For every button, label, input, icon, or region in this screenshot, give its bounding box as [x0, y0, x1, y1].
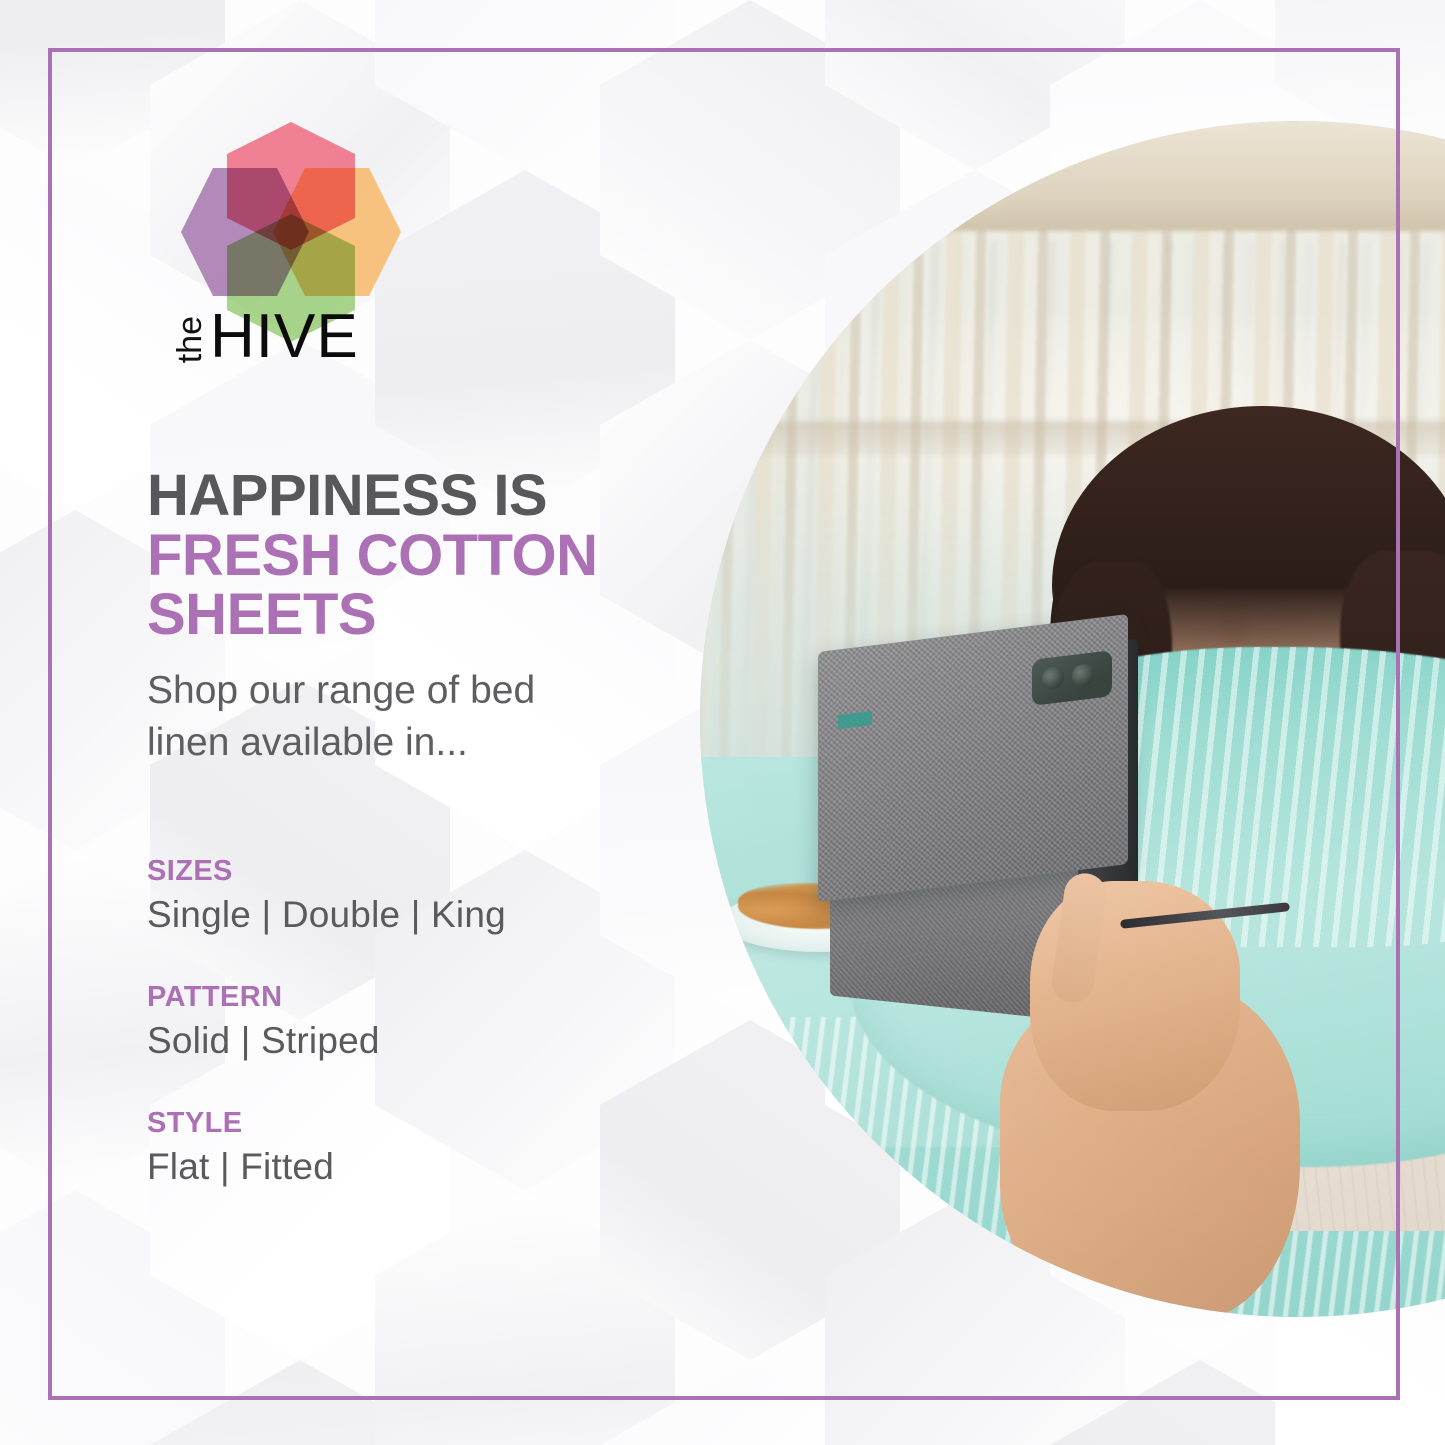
wordmark-the: the [173, 315, 207, 363]
spec-label-pattern: PATTERN [147, 981, 617, 1014]
poster-canvas: the HIVE HAPPINESS IS FRESH COTTON SHEET… [0, 0, 1445, 1445]
subheadline: Shop our range of bed linen available in… [147, 665, 577, 770]
spec-value-sizes: Single | Double | King [147, 894, 617, 936]
product-spec-list: SIZES Single | Double | King PATTERN Sol… [147, 855, 617, 1233]
spec-value-pattern: Solid | Striped [147, 1020, 617, 1062]
logo-hexagon-cluster [173, 118, 393, 318]
photo-vignette [700, 121, 1445, 1317]
subheadline-line-2: linen available in... [147, 721, 468, 764]
page-title: HAPPINESS IS FRESH COTTON SHEETS [147, 466, 687, 645]
headline-line-2: FRESH COTTON [147, 526, 687, 586]
spec-value-style: Flat | Fitted [147, 1146, 617, 1188]
spec-label-style: STYLE [147, 1107, 617, 1140]
spec-item-sizes: SIZES Single | Double | King [147, 855, 617, 936]
headline-line-1: HAPPINESS IS [147, 466, 687, 526]
spec-label-sizes: SIZES [147, 855, 617, 888]
lifestyle-photo [700, 121, 1445, 1317]
subheadline-line-1: Shop our range of bed [147, 669, 535, 712]
content-column: the HIVE HAPPINESS IS FRESH COTTON SHEET… [143, 0, 703, 1445]
brand-logo: the HIVE [173, 118, 473, 408]
headline-line-3: SHEETS [147, 585, 687, 645]
brand-wordmark: the HIVE [173, 310, 359, 363]
spec-item-style: STYLE Flat | Fitted [147, 1107, 617, 1188]
wordmark-hive: HIVE [210, 310, 359, 363]
spec-item-pattern: PATTERN Solid | Striped [147, 981, 617, 1062]
